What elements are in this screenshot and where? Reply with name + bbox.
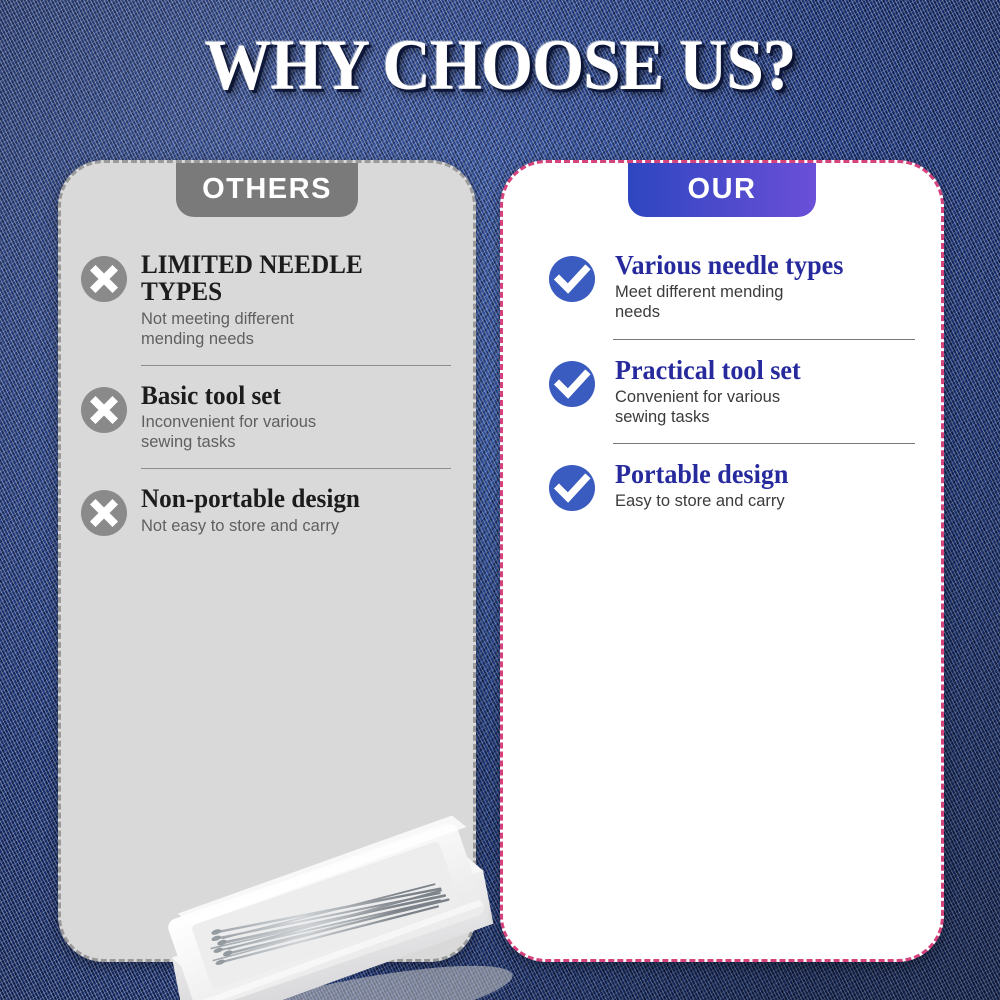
our-feature-title: Portable design: [615, 460, 904, 488]
our-card: OUR Various needle types Meet different …: [500, 160, 944, 962]
others-feature-list: LIMITED NEEDLE TYPES Not meeting differe…: [61, 251, 473, 536]
check-icon: [549, 465, 595, 511]
cross-icon: [81, 490, 127, 536]
others-feature-title: Non-portable design: [141, 485, 436, 512]
our-feature-title: Practical tool set: [615, 356, 904, 384]
others-divider: [141, 365, 451, 366]
page-title: WHY CHOOSE US?: [35, 24, 965, 107]
others-feature-text: Non-portable design Not easy to store an…: [141, 485, 451, 536]
others-feature-title: Basic tool set: [141, 382, 436, 409]
needle-box-image: [145, 777, 513, 1000]
others-card: OTHERS LIMITED NEEDLE TYPES Not meeting …: [58, 160, 476, 962]
our-feature-item: Portable design Easy to store and carry: [503, 460, 941, 511]
our-divider: [613, 339, 915, 340]
others-feature-subtitle: Not easy to store and carry: [141, 516, 451, 536]
others-feature-text: Basic tool set Inconvenient for various …: [141, 382, 451, 453]
others-feature-title: LIMITED NEEDLE TYPES: [141, 251, 436, 306]
others-feature-item: LIMITED NEEDLE TYPES Not meeting differe…: [61, 251, 473, 349]
our-feature-item: Practical tool set Convenient for variou…: [503, 356, 941, 428]
others-feature-subtitle: Inconvenient for various sewing tasks: [141, 412, 451, 452]
our-feature-text: Practical tool set Convenient for variou…: [615, 356, 919, 428]
cross-icon: [81, 256, 127, 302]
others-badge-label: OTHERS: [202, 173, 332, 206]
our-feature-subtitle: Meet different mending needs: [615, 282, 919, 322]
cross-icon: [81, 387, 127, 433]
others-feature-text: LIMITED NEEDLE TYPES Not meeting differe…: [141, 251, 451, 349]
our-feature-text: Various needle types Meet different mend…: [615, 251, 919, 323]
our-badge-label: OUR: [688, 173, 757, 206]
our-feature-subtitle: Convenient for various sewing tasks: [615, 387, 919, 427]
others-feature-item: Non-portable design Not easy to store an…: [61, 485, 473, 536]
our-badge: OUR: [628, 163, 816, 217]
check-icon: [549, 256, 595, 302]
others-badge: OTHERS: [176, 163, 358, 217]
our-feature-text: Portable design Easy to store and carry: [615, 460, 919, 511]
check-icon: [549, 361, 595, 407]
our-feature-title: Various needle types: [615, 251, 904, 279]
others-feature-item: Basic tool set Inconvenient for various …: [61, 382, 473, 453]
our-feature-subtitle: Easy to store and carry: [615, 491, 919, 511]
others-divider: [141, 468, 451, 469]
our-feature-list: Various needle types Meet different mend…: [503, 251, 941, 512]
our-divider: [613, 443, 915, 444]
our-feature-item: Various needle types Meet different mend…: [503, 251, 941, 323]
others-feature-subtitle: Not meeting different mending needs: [141, 309, 451, 349]
